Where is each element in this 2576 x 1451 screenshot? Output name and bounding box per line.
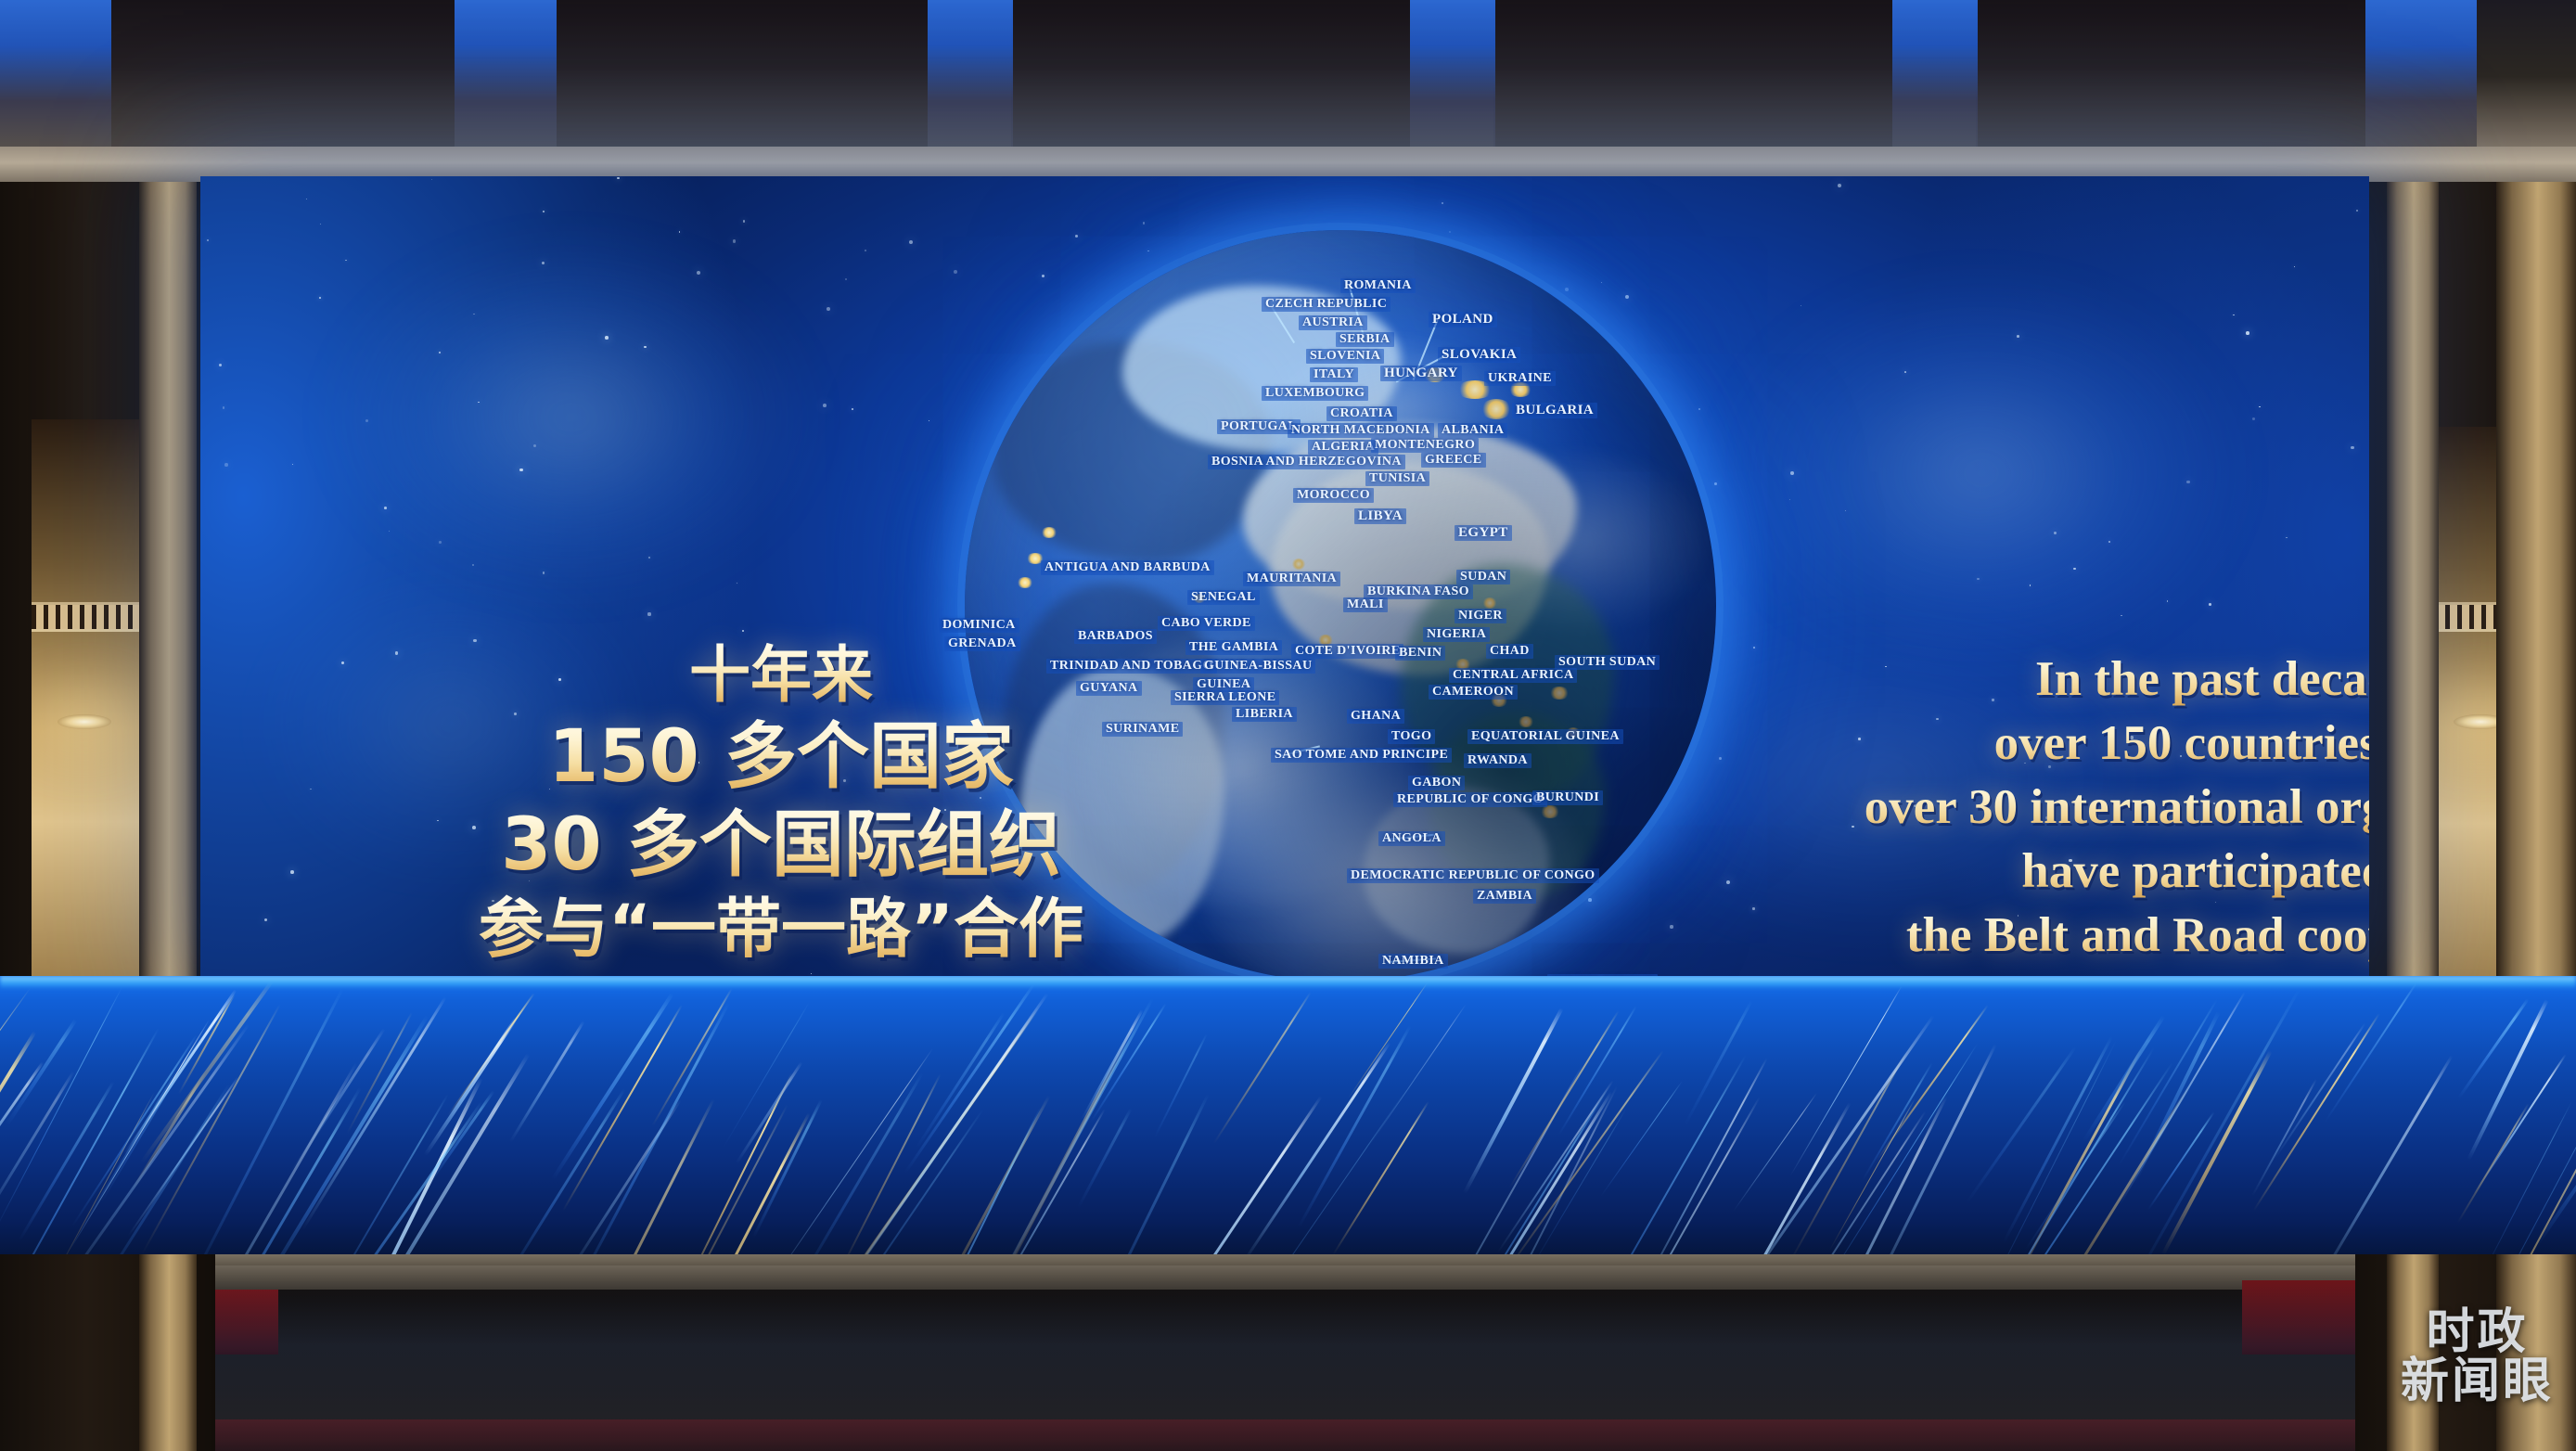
ceiling-beam-5 xyxy=(2365,0,2477,163)
star xyxy=(219,364,222,366)
ceiling-coffer-2 xyxy=(557,0,928,148)
stage-light-streak xyxy=(1298,1025,1412,1228)
country-label: BULGARIA xyxy=(1512,403,1597,418)
star xyxy=(2294,266,2295,267)
ceiling-coffer-5 xyxy=(1976,0,2365,148)
star xyxy=(1752,907,1754,909)
country-label: SIERRA LEONE xyxy=(1171,690,1279,705)
stage-light-streak xyxy=(1509,1010,1620,1188)
star xyxy=(224,463,228,467)
country-label: LUXEMBOURG xyxy=(1262,386,1368,401)
star xyxy=(472,564,474,566)
stage-light-streak xyxy=(1091,1094,1210,1254)
country-label: LIBERIA xyxy=(1232,707,1297,722)
stage-light-streak xyxy=(424,1017,519,1156)
country-label: HUNGARY xyxy=(1380,366,1462,381)
ceiling-coffer-1 xyxy=(111,0,455,148)
star xyxy=(2167,600,2169,602)
star xyxy=(365,419,368,422)
stage-light-streak xyxy=(2316,1055,2454,1254)
country-label: NORTH MACEDONIA xyxy=(1288,423,1434,438)
star xyxy=(742,630,745,633)
stage-light-streak xyxy=(1684,1000,1753,1126)
ceiling xyxy=(0,0,2576,182)
star xyxy=(2054,532,2057,534)
country-label: GABON xyxy=(1408,776,1465,790)
left-balustrade xyxy=(32,605,139,629)
star xyxy=(647,612,650,615)
stage-light-streak xyxy=(1862,1062,1933,1181)
stage-light-streak xyxy=(2275,1022,2367,1160)
stage-light-streak xyxy=(2252,1079,2318,1196)
star xyxy=(743,220,745,222)
country-label: CABO VERDE xyxy=(1158,616,1255,631)
country-label: COTE D'IVOIRE xyxy=(1291,644,1403,659)
star xyxy=(648,557,650,559)
stage-light-streak xyxy=(551,993,673,1180)
ceiling-coffer-3 xyxy=(1011,0,1410,148)
country-label: REPUBLIC OF CONGO xyxy=(1393,792,1547,807)
star xyxy=(2073,568,2076,571)
stage-step-lower xyxy=(0,1265,2576,1290)
stage-light-streak xyxy=(1091,1003,1168,1123)
country-label: CZECH REPUBLIC xyxy=(1262,297,1391,312)
country-label: SLOVAKIA xyxy=(1438,347,1520,363)
stage-light-streak xyxy=(0,1031,36,1224)
country-label: CENTRAL AFRICA xyxy=(1449,668,1577,683)
star xyxy=(542,262,545,264)
star xyxy=(431,179,432,180)
country-label: ITALY xyxy=(1310,367,1358,382)
stage-light-streak xyxy=(840,1073,941,1254)
star xyxy=(1845,510,1846,511)
stage-light-streak xyxy=(509,1021,584,1142)
stage-light-streak xyxy=(988,1109,1105,1254)
star xyxy=(2030,584,2031,585)
cn-line-2: 150 多个国家 xyxy=(466,713,1096,802)
star xyxy=(389,531,390,532)
nebula-right xyxy=(1722,278,2241,668)
country-label: TOGO xyxy=(1388,729,1435,744)
country-label: UKRAINE xyxy=(1484,371,1556,386)
country-label: MOROCCO xyxy=(1293,488,1374,503)
star xyxy=(697,271,700,275)
star xyxy=(341,661,344,664)
star xyxy=(292,464,293,465)
star xyxy=(1977,578,1979,580)
stage-light-streak xyxy=(916,1012,1005,1149)
country-label: THE GAMBIA xyxy=(1185,640,1282,655)
star xyxy=(543,571,545,574)
stage-light-streak xyxy=(1570,1055,1746,1254)
star xyxy=(617,177,619,179)
hall-scene: ROMANIACZECH REPUBLICAUSTRIAPOLANDSERBIA… xyxy=(0,0,2576,1451)
star xyxy=(543,211,545,212)
country-label: POLAND xyxy=(1429,312,1497,327)
stage-light-streak xyxy=(1717,1015,1935,1254)
stage-light-streak xyxy=(2119,992,2245,1205)
stage-light-streak xyxy=(2161,1050,2272,1254)
star xyxy=(478,402,480,404)
country-label: SERBIA xyxy=(1336,332,1394,347)
star xyxy=(1801,305,1801,306)
country-label: BURUNDI xyxy=(1532,790,1603,805)
stage-light-streak xyxy=(2253,1013,2380,1212)
country-label: ANGOLA xyxy=(1378,831,1445,846)
star xyxy=(2186,481,2189,483)
country-label: SENEGAL xyxy=(1187,590,1260,605)
country-label: RWANDA xyxy=(1464,753,1532,768)
en-line-3: over 30 international organizations xyxy=(1861,776,2369,840)
stage-light-streak xyxy=(812,1109,983,1254)
star xyxy=(519,469,522,471)
star xyxy=(395,651,399,655)
country-label: EGYPT xyxy=(1455,525,1512,541)
star xyxy=(605,336,609,340)
en-line-5: the Belt and Road cooperation. xyxy=(1861,904,2369,968)
country-label: MAURITANIA xyxy=(1243,571,1340,586)
country-label: LIBYA xyxy=(1354,508,1406,524)
stage-light-streak xyxy=(1081,1009,1144,1121)
star xyxy=(320,224,321,225)
stage-light-streak xyxy=(2466,1042,2576,1254)
star xyxy=(2351,446,2353,449)
star xyxy=(437,820,439,822)
star xyxy=(2233,315,2235,316)
ceiling-coffer-4 xyxy=(1493,0,1892,148)
stage-light-streak xyxy=(660,1104,788,1254)
country-label: SUDAN xyxy=(1456,570,1510,584)
star xyxy=(2108,541,2110,543)
star xyxy=(290,870,294,874)
star xyxy=(306,199,307,199)
star xyxy=(473,314,474,315)
stage-light-streak xyxy=(1213,992,1312,1144)
ceiling-beam-0 xyxy=(0,0,111,163)
stage-light-streak xyxy=(1111,1096,1321,1254)
star xyxy=(909,240,913,244)
star xyxy=(954,270,957,274)
star xyxy=(384,507,387,509)
stage-light-streak xyxy=(1634,1058,1768,1254)
country-label: GHANA xyxy=(1347,709,1404,724)
country-label: DEMOCRATIC REPUBLIC OF CONGO xyxy=(1347,868,1599,883)
stage-light-streak xyxy=(18,1081,114,1241)
ceiling-beam-4 xyxy=(1892,0,1978,163)
stage-apron-led xyxy=(0,976,2576,1254)
star xyxy=(223,406,224,408)
left-alcove xyxy=(32,419,139,1069)
country-label: MONTENEGRO xyxy=(1371,438,1479,453)
star xyxy=(827,307,830,311)
star xyxy=(1753,647,1755,648)
watermark-line-1: 时政 xyxy=(2401,1308,2554,1357)
star xyxy=(1143,222,1146,225)
stage-light-streak xyxy=(1963,1062,2172,1254)
star xyxy=(852,408,853,410)
country-label: BOSNIA AND HERZEGOVINA xyxy=(1208,455,1405,469)
stage-light-streak xyxy=(1601,1081,1684,1197)
star xyxy=(1904,371,1906,373)
star xyxy=(310,789,312,790)
stage-light-streak xyxy=(185,1062,358,1254)
country-label: SURINAME xyxy=(1102,722,1183,737)
star xyxy=(1790,471,1794,475)
stage-light-streak xyxy=(1154,1034,1208,1138)
stage-light-streak xyxy=(2457,998,2529,1098)
country-label: ALBANIA xyxy=(1438,423,1507,438)
star xyxy=(345,260,347,262)
country-label: TUNISIA xyxy=(1365,471,1429,486)
star xyxy=(1838,184,1841,187)
stage-light-streak xyxy=(301,996,447,1230)
stage-light-streak xyxy=(2325,980,2419,1122)
star xyxy=(2209,603,2211,606)
broadcaster-watermark: 时政 新闻眼 xyxy=(2401,1308,2554,1406)
watermark-line-2: 新闻眼 xyxy=(2401,1357,2554,1406)
stage-light-streak xyxy=(796,1072,923,1254)
stage-light-streak xyxy=(71,1034,198,1227)
stage-light-streak xyxy=(669,1112,811,1254)
star xyxy=(2286,537,2287,538)
country-label: ZAMBIA xyxy=(1473,889,1536,904)
stage-light-streak xyxy=(2083,1015,2165,1142)
left-wall-sconce xyxy=(58,714,111,729)
star xyxy=(439,541,442,544)
country-label: SLOVENIA xyxy=(1306,349,1384,364)
stage-light-streak xyxy=(2462,1085,2576,1254)
stage-light-streak xyxy=(1876,1005,1989,1162)
stage-light-streak xyxy=(904,982,1035,1174)
cn-line-3: 30 多个国际组织 xyxy=(466,802,1096,890)
star xyxy=(264,918,267,921)
star xyxy=(737,583,737,584)
country-label: EQUATORIAL GUINEA xyxy=(1467,729,1623,744)
stage-light-streak xyxy=(562,1005,683,1212)
en-line-2: over 150 countries and xyxy=(1861,712,2369,776)
cn-line-4: 参与“一带一路”合作 xyxy=(466,890,1096,969)
star xyxy=(1442,202,1443,204)
country-label: ROMANIA xyxy=(1340,278,1416,293)
stage-light-streak xyxy=(1243,1042,1391,1254)
country-label: SAO TOME AND PRINCIPE xyxy=(1271,748,1452,763)
english-caption: In the past decade, over 150 countries a… xyxy=(1861,648,2369,967)
country-label: NIGERIA xyxy=(1423,627,1490,642)
en-line-4: have participated in xyxy=(1861,840,2369,904)
red-carpet-front xyxy=(0,1419,2576,1451)
country-label: MALI xyxy=(1343,597,1388,612)
country-label: CHAD xyxy=(1486,644,1533,659)
star xyxy=(1719,757,1722,760)
country-label: CROATIA xyxy=(1326,406,1397,421)
nebula-left xyxy=(330,241,813,594)
country-label: GREECE xyxy=(1421,453,1486,468)
stage-light-streak xyxy=(1203,1089,1407,1254)
cn-line-1: 十年来 xyxy=(466,638,1096,713)
star xyxy=(2017,335,2019,338)
stage-light-streak xyxy=(1348,982,1429,1098)
ceiling-beam-3 xyxy=(1410,0,1495,163)
stage-light-streak xyxy=(929,1095,1050,1254)
star xyxy=(644,346,647,349)
ceiling-beam-2 xyxy=(928,0,1013,163)
star xyxy=(319,297,321,299)
stage-light-streak xyxy=(736,1061,803,1164)
star xyxy=(845,278,848,281)
stage-light-streak xyxy=(1463,1008,1563,1194)
stage-light-streak xyxy=(6,1019,77,1125)
star xyxy=(811,973,812,974)
star xyxy=(2356,210,2358,212)
country-label: ANTIGUA AND BARBUDA xyxy=(1041,560,1214,575)
country-label: NIGER xyxy=(1455,609,1506,623)
star xyxy=(1789,499,1790,500)
country-label: BENIN xyxy=(1395,646,1445,661)
star xyxy=(1726,880,1730,884)
star xyxy=(2259,406,2261,408)
en-line-1: In the past decade, xyxy=(1861,648,2369,712)
star xyxy=(439,352,441,353)
stage-light-streak xyxy=(78,1070,178,1234)
star xyxy=(1852,826,1854,828)
country-label: CAMEROON xyxy=(1429,685,1518,700)
star xyxy=(865,250,866,251)
country-label: ALGERIA xyxy=(1308,440,1378,455)
ceiling-beam-1 xyxy=(455,0,557,163)
star xyxy=(733,239,736,242)
country-label: NAMIBIA xyxy=(1378,954,1448,969)
country-label: DOMINICA xyxy=(939,618,1019,633)
star xyxy=(2246,331,2249,335)
star xyxy=(533,444,537,448)
star xyxy=(679,231,680,232)
led-video-wall[interactable]: ROMANIACZECH REPUBLICAUSTRIAPOLANDSERBIA… xyxy=(200,176,2369,976)
country-label: AUSTRIA xyxy=(1299,315,1367,330)
chinese-caption: 十年来 150 多个国家 30 多个国际组织 参与“一带一路”合作 xyxy=(466,638,1096,969)
star xyxy=(2252,417,2255,420)
star xyxy=(823,404,827,407)
star xyxy=(2121,615,2122,617)
stage-light-streak xyxy=(0,1112,1,1254)
country-label: GUINEA-BISSAU xyxy=(1200,659,1315,674)
star xyxy=(207,239,209,241)
star xyxy=(929,420,929,421)
